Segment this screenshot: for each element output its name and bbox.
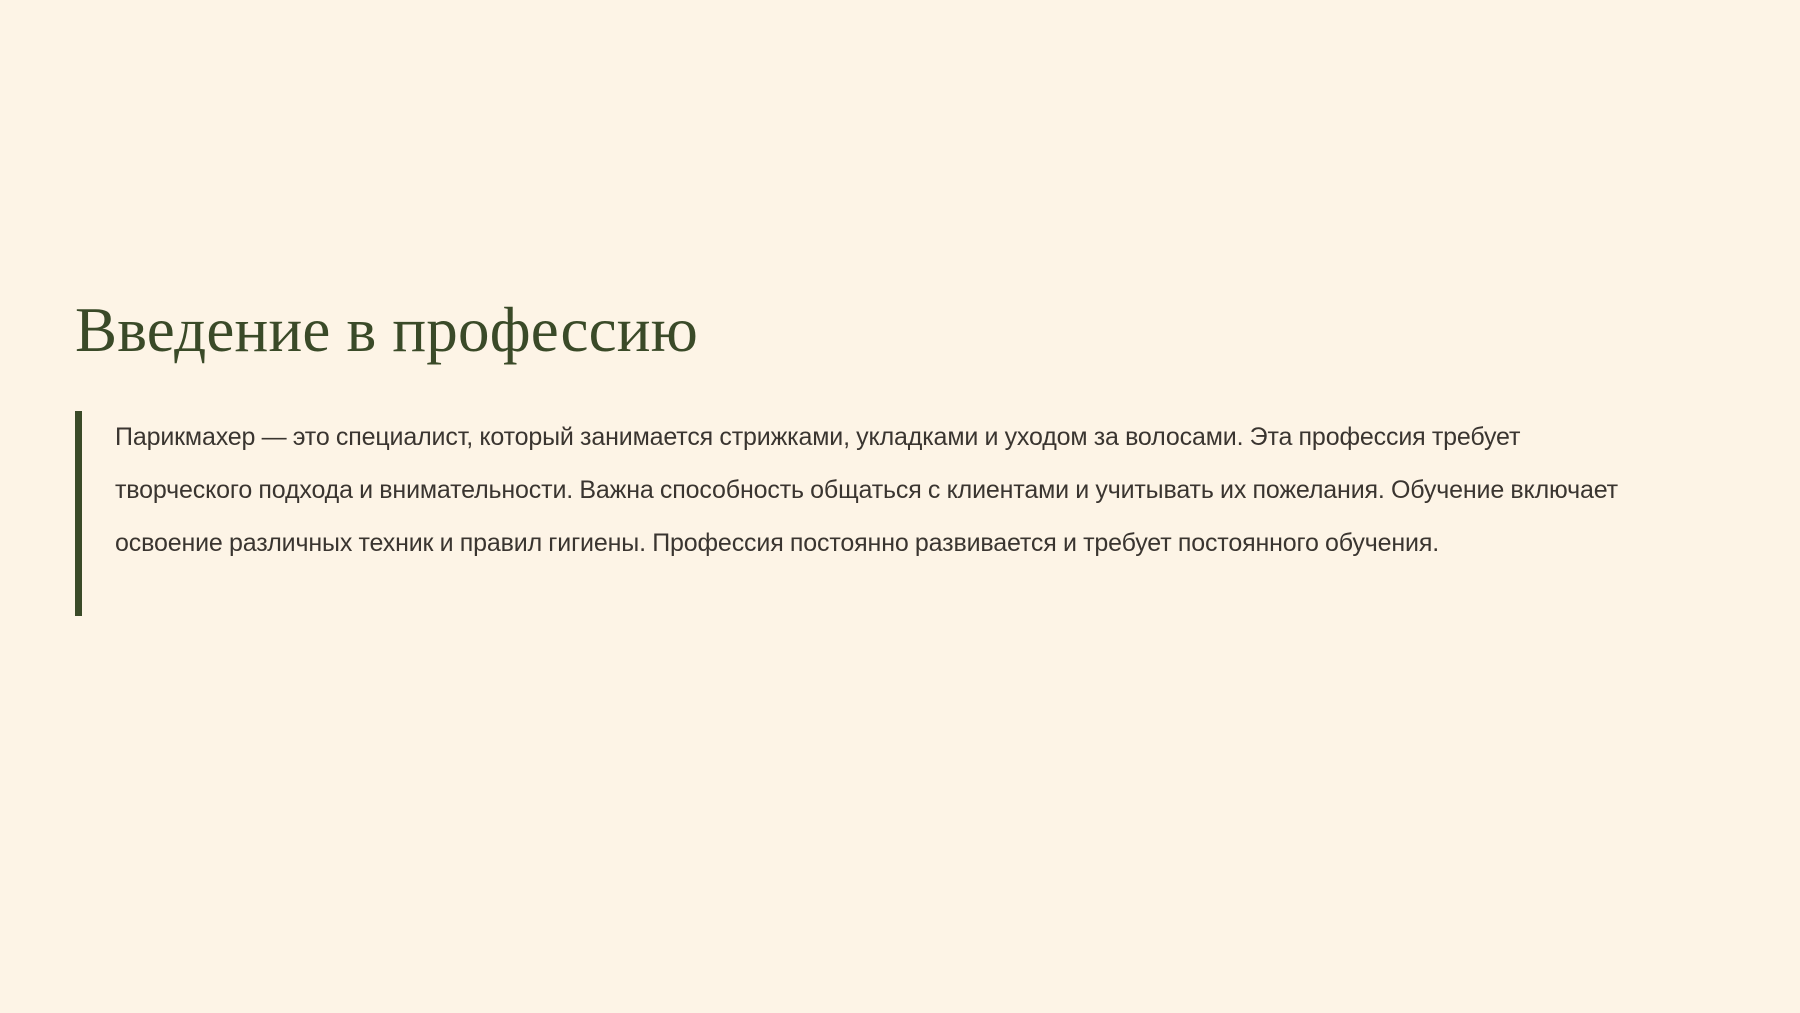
page-title: Введение в профессию [75,295,1675,366]
accent-bar [75,411,82,616]
slide-canvas: Введение в профессию Парикмахер — это сп… [0,0,1800,1013]
body-paragraph: Парикмахер — это специалист, который зан… [115,411,1625,570]
slide-content: Введение в профессию Парикмахер — это сп… [75,295,1675,616]
body-callout: Парикмахер — это специалист, который зан… [75,411,1675,616]
